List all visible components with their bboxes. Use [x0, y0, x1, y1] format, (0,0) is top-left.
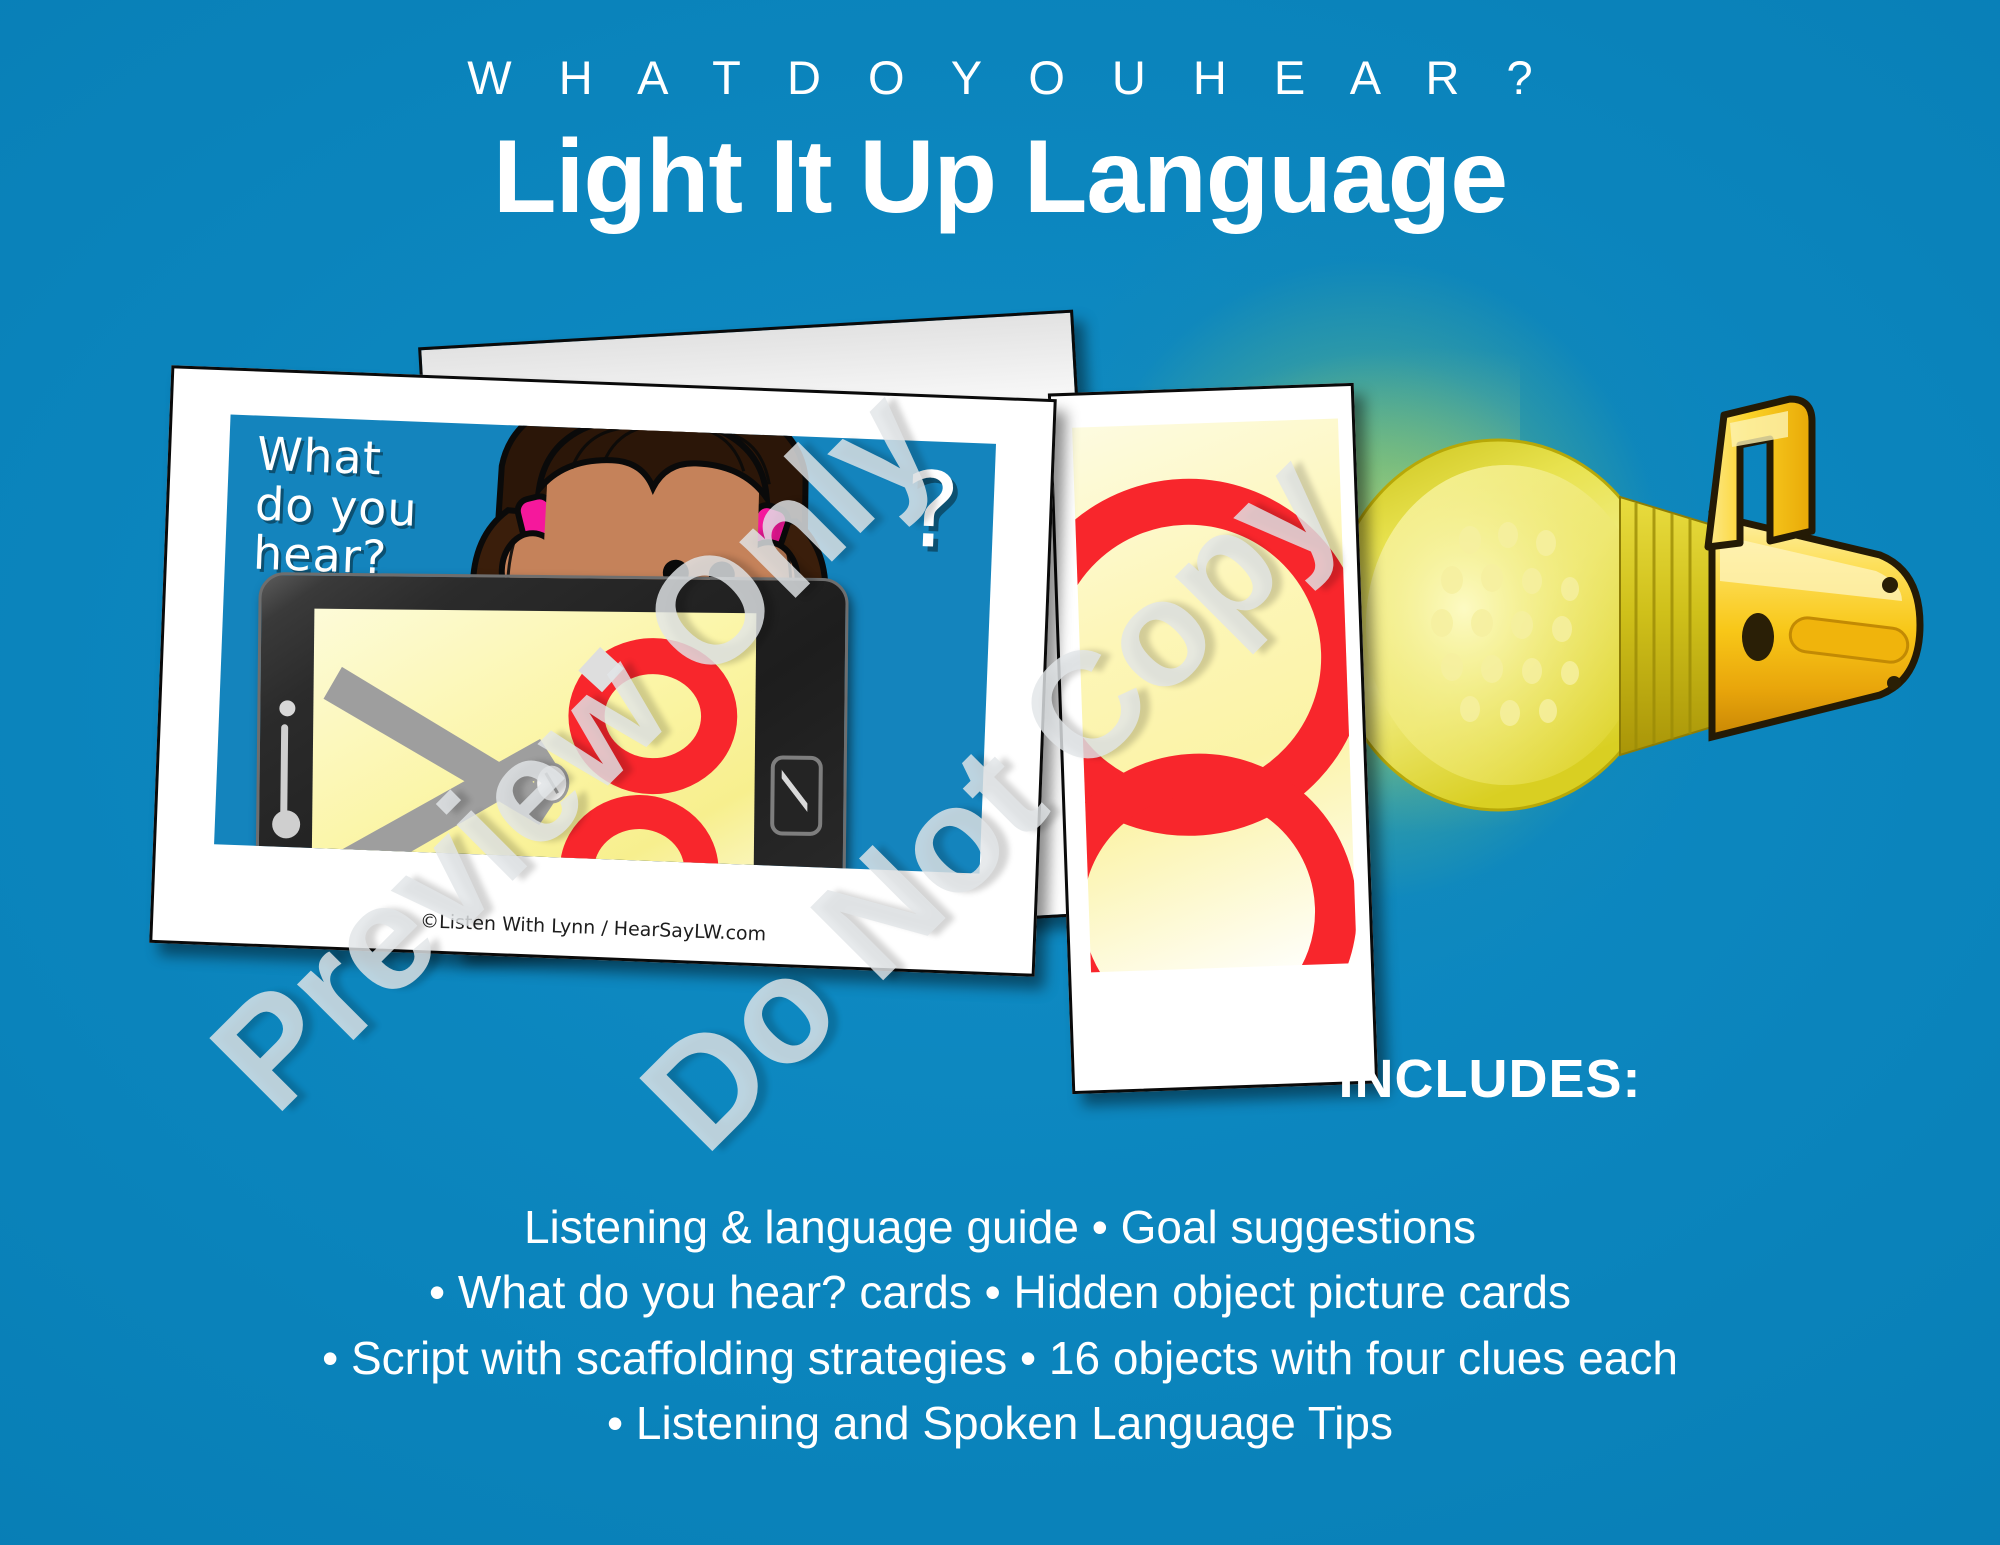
question-mark-icon: ?: [902, 448, 962, 572]
includes-item-2: • What do you hear? cards • Hidden objec…: [60, 1260, 1940, 1325]
tablet-camera-icon: [279, 700, 295, 716]
card-prompt-text: What do you hear?: [252, 430, 420, 585]
card-what-do-you-hear: What do you hear? ?: [149, 365, 1057, 977]
includes-list: Listening & language guide • Goal sugges…: [60, 1195, 1940, 1456]
includes-item-4: • Listening and Spoken Language Tips: [60, 1391, 1940, 1456]
page-kicker: W H A T D O Y O U H E A R ?: [0, 50, 2000, 105]
flashlight-illustration: [1320, 375, 1960, 825]
tablet-illustration: [254, 572, 848, 874]
includes-item-1: Listening & language guide • Goal sugges…: [60, 1195, 1940, 1260]
page-title: Light It Up Language: [0, 118, 2000, 237]
product-cover-page: What do you hear? ?: [0, 0, 2000, 1545]
copyright-notice: ©Listen With Lynn / HearSayLW.com: [153, 900, 1033, 956]
tablet-app-icon: [770, 755, 823, 836]
includes-item-3: • Script with scaffolding strategies • 1…: [60, 1326, 1940, 1391]
card-photo-area: What do you hear? ?: [214, 415, 996, 874]
tablet-screen: [311, 609, 757, 874]
includes-heading: INCLUDES:: [1160, 1048, 1820, 1110]
card-hidden-object-photo: [1072, 418, 1357, 972]
card-hidden-object: [1048, 383, 1378, 1094]
tablet-home-button: [272, 810, 300, 838]
